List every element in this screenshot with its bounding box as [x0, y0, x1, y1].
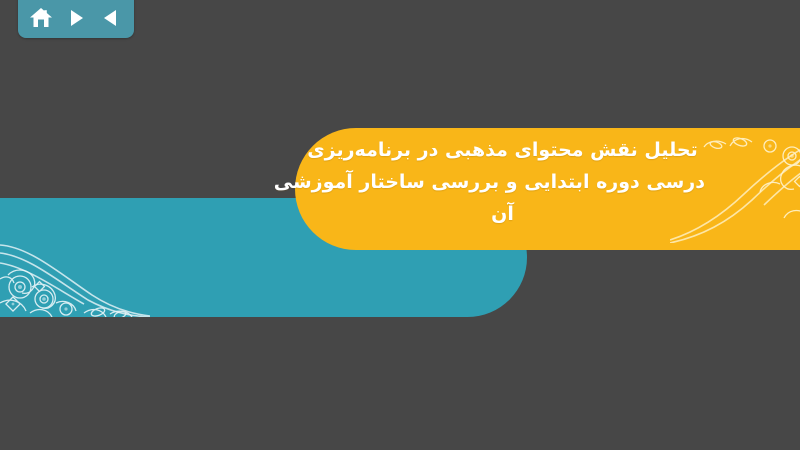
- presentation-slide: تحلیل نقش محتوای مذهبی در برنامه‌ریزی در…: [0, 0, 800, 450]
- home-icon: [29, 6, 53, 30]
- previous-triangle-icon: [100, 7, 122, 29]
- home-button[interactable]: [27, 4, 55, 32]
- previous-button[interactable]: [97, 4, 125, 32]
- next-triangle-icon: [65, 7, 87, 29]
- next-button[interactable]: [62, 4, 90, 32]
- slide-navigation-bar: [18, 0, 134, 38]
- arabesque-ornament-teal: [0, 217, 150, 317]
- arabesque-ornament-orange: [670, 128, 800, 243]
- title-orange-panel: [295, 128, 800, 250]
